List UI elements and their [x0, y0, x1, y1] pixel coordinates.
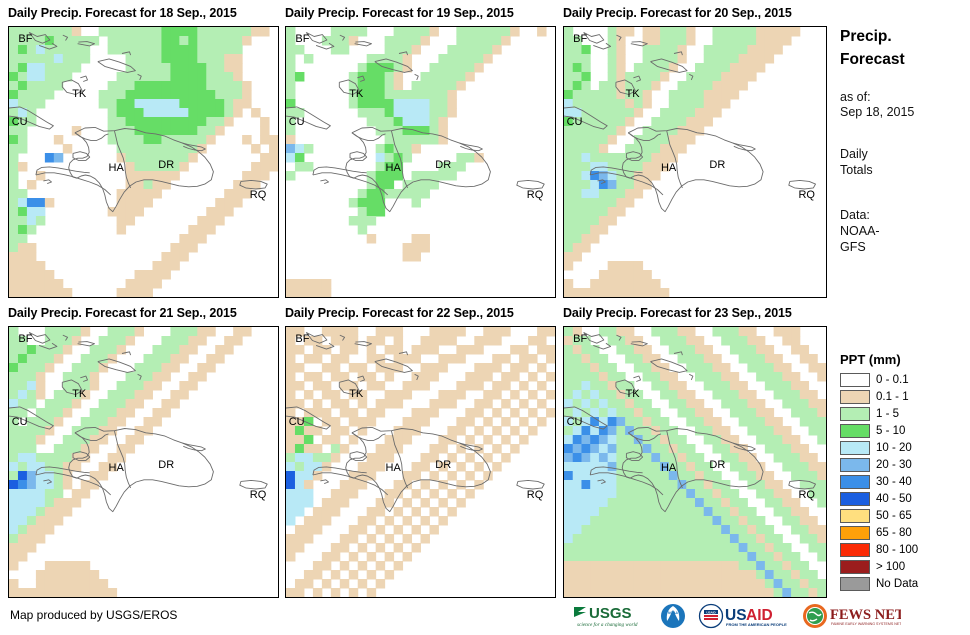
- info-column: Precip. Forecast as of: Sep 18, 2015 Dai…: [840, 28, 968, 255]
- legend-swatch: [840, 543, 870, 557]
- map-panel-22-sep[interactable]: BFTKCUHADRRQ: [285, 326, 556, 598]
- precip-grid: [286, 27, 555, 297]
- legend-row: No Data: [840, 575, 970, 592]
- svg-text:FEWS NET: FEWS NET: [830, 607, 901, 623]
- legend-swatch: [840, 441, 870, 455]
- panel-title-5: Daily Precip. Forecast for 22 Sep., 2015: [285, 306, 514, 320]
- legend-row: 20 - 30: [840, 456, 970, 473]
- legend-label: No Data: [876, 578, 918, 590]
- precip-grid: [9, 327, 278, 597]
- usgs-logo: USGS science for a changing world: [572, 601, 650, 631]
- legend-label: 0.1 - 1: [876, 391, 909, 403]
- legend: PPT (mm) 0 - 0.10.1 - 11 - 55 - 1010 - 2…: [840, 352, 970, 592]
- legend-swatch: [840, 560, 870, 574]
- info-totals-line1: Daily: [840, 147, 968, 163]
- legend-label: 10 - 20: [876, 442, 912, 454]
- legend-row: 65 - 80: [840, 524, 970, 541]
- svg-text:FROM THE AMERICAN PEOPLE: FROM THE AMERICAN PEOPLE: [726, 622, 787, 627]
- legend-row: > 100: [840, 558, 970, 575]
- legend-row: 0.1 - 1: [840, 388, 970, 405]
- noaa-logo: NOAA: [659, 601, 687, 631]
- panel-title-2: Daily Precip. Forecast for 19 Sep., 2015: [285, 6, 514, 20]
- legend-swatch: [840, 407, 870, 421]
- legend-row: 80 - 100: [840, 541, 970, 558]
- info-totals-line2: Totals: [840, 163, 968, 179]
- info-data-source-line1: NOAA-: [840, 224, 968, 240]
- map-panel-21-sep[interactable]: BFTKCUHADRRQ: [8, 326, 279, 598]
- legend-row: 30 - 40: [840, 473, 970, 490]
- info-title-line2: Forecast: [840, 51, 968, 70]
- precip-grid: [9, 27, 278, 297]
- legend-swatch: [840, 492, 870, 506]
- map-panel-19-sep[interactable]: BFTKCUHADRRQ: [285, 26, 556, 298]
- legend-swatch: [840, 373, 870, 387]
- legend-row: 10 - 20: [840, 439, 970, 456]
- legend-label: 40 - 50: [876, 493, 912, 505]
- svg-text:science for a changing world: science for a changing world: [577, 621, 638, 628]
- legend-label: 30 - 40: [876, 476, 912, 488]
- legend-swatch: [840, 424, 870, 438]
- legend-label: 65 - 80: [876, 527, 912, 539]
- legend-swatch: [840, 458, 870, 472]
- info-title-line1: Precip.: [840, 28, 968, 47]
- legend-label: 5 - 10: [876, 425, 905, 437]
- precip-grid: [564, 327, 826, 597]
- legend-label: > 100: [876, 561, 905, 573]
- svg-text:USGS: USGS: [589, 605, 632, 622]
- svg-text:FAMINE EARLY WARNING SYSTEMS N: FAMINE EARLY WARNING SYSTEMS NETWORK: [831, 622, 901, 626]
- legend-swatch: [840, 475, 870, 489]
- info-asof-date: Sep 18, 2015: [840, 105, 968, 121]
- legend-label: 20 - 30: [876, 459, 912, 471]
- logo-strip: USGS science for a changing world NOAA U…: [572, 601, 901, 631]
- panel-title-1: Daily Precip. Forecast for 18 Sep., 2015: [8, 6, 237, 20]
- panel-title-3: Daily Precip. Forecast for 20 Sep., 2015: [563, 6, 792, 20]
- fewsnet-logo: FEWS NET FAMINE EARLY WARNING SYSTEMS NE…: [801, 601, 901, 631]
- legend-title: PPT (mm): [840, 352, 970, 367]
- legend-label: 1 - 5: [876, 408, 899, 420]
- legend-row: 50 - 65: [840, 507, 970, 524]
- legend-label: 50 - 65: [876, 510, 912, 522]
- legend-swatch: [840, 509, 870, 523]
- map-panel-23-sep[interactable]: BFTKCUHADRRQ: [563, 326, 827, 598]
- panel-title-4: Daily Precip. Forecast for 21 Sep., 2015: [8, 306, 237, 320]
- legend-label: 80 - 100: [876, 544, 918, 556]
- legend-label: 0 - 0.1: [876, 374, 909, 386]
- svg-text:USAID: USAID: [706, 610, 716, 614]
- info-data-source-line2: GFS: [840, 240, 968, 256]
- footer-caption: Map produced by USGS/EROS: [10, 608, 177, 622]
- legend-row: 5 - 10: [840, 422, 970, 439]
- info-asof-label: as of:: [840, 90, 968, 106]
- map-panel-20-sep[interactable]: BFTKCUHADRRQ: [563, 26, 827, 298]
- legend-row: 1 - 5: [840, 405, 970, 422]
- info-data-label: Data:: [840, 208, 968, 224]
- panel-title-6: Daily Precip. Forecast for 23 Sep., 2015: [563, 306, 792, 320]
- legend-row: 40 - 50: [840, 490, 970, 507]
- legend-swatch: [840, 526, 870, 540]
- legend-rows: 0 - 0.10.1 - 11 - 55 - 1010 - 2020 - 303…: [840, 371, 970, 592]
- svg-text:NOAA: NOAA: [668, 611, 679, 615]
- precip-grid: [564, 27, 826, 297]
- map-panel-18-sep[interactable]: BFTKCUHADRRQ: [8, 26, 279, 298]
- legend-row: 0 - 0.1: [840, 371, 970, 388]
- legend-swatch: [840, 577, 870, 591]
- legend-swatch: [840, 390, 870, 404]
- usaid-logo: USAID US AID FROM THE AMERICAN PEOPLE: [696, 601, 792, 631]
- precip-grid: [286, 327, 555, 597]
